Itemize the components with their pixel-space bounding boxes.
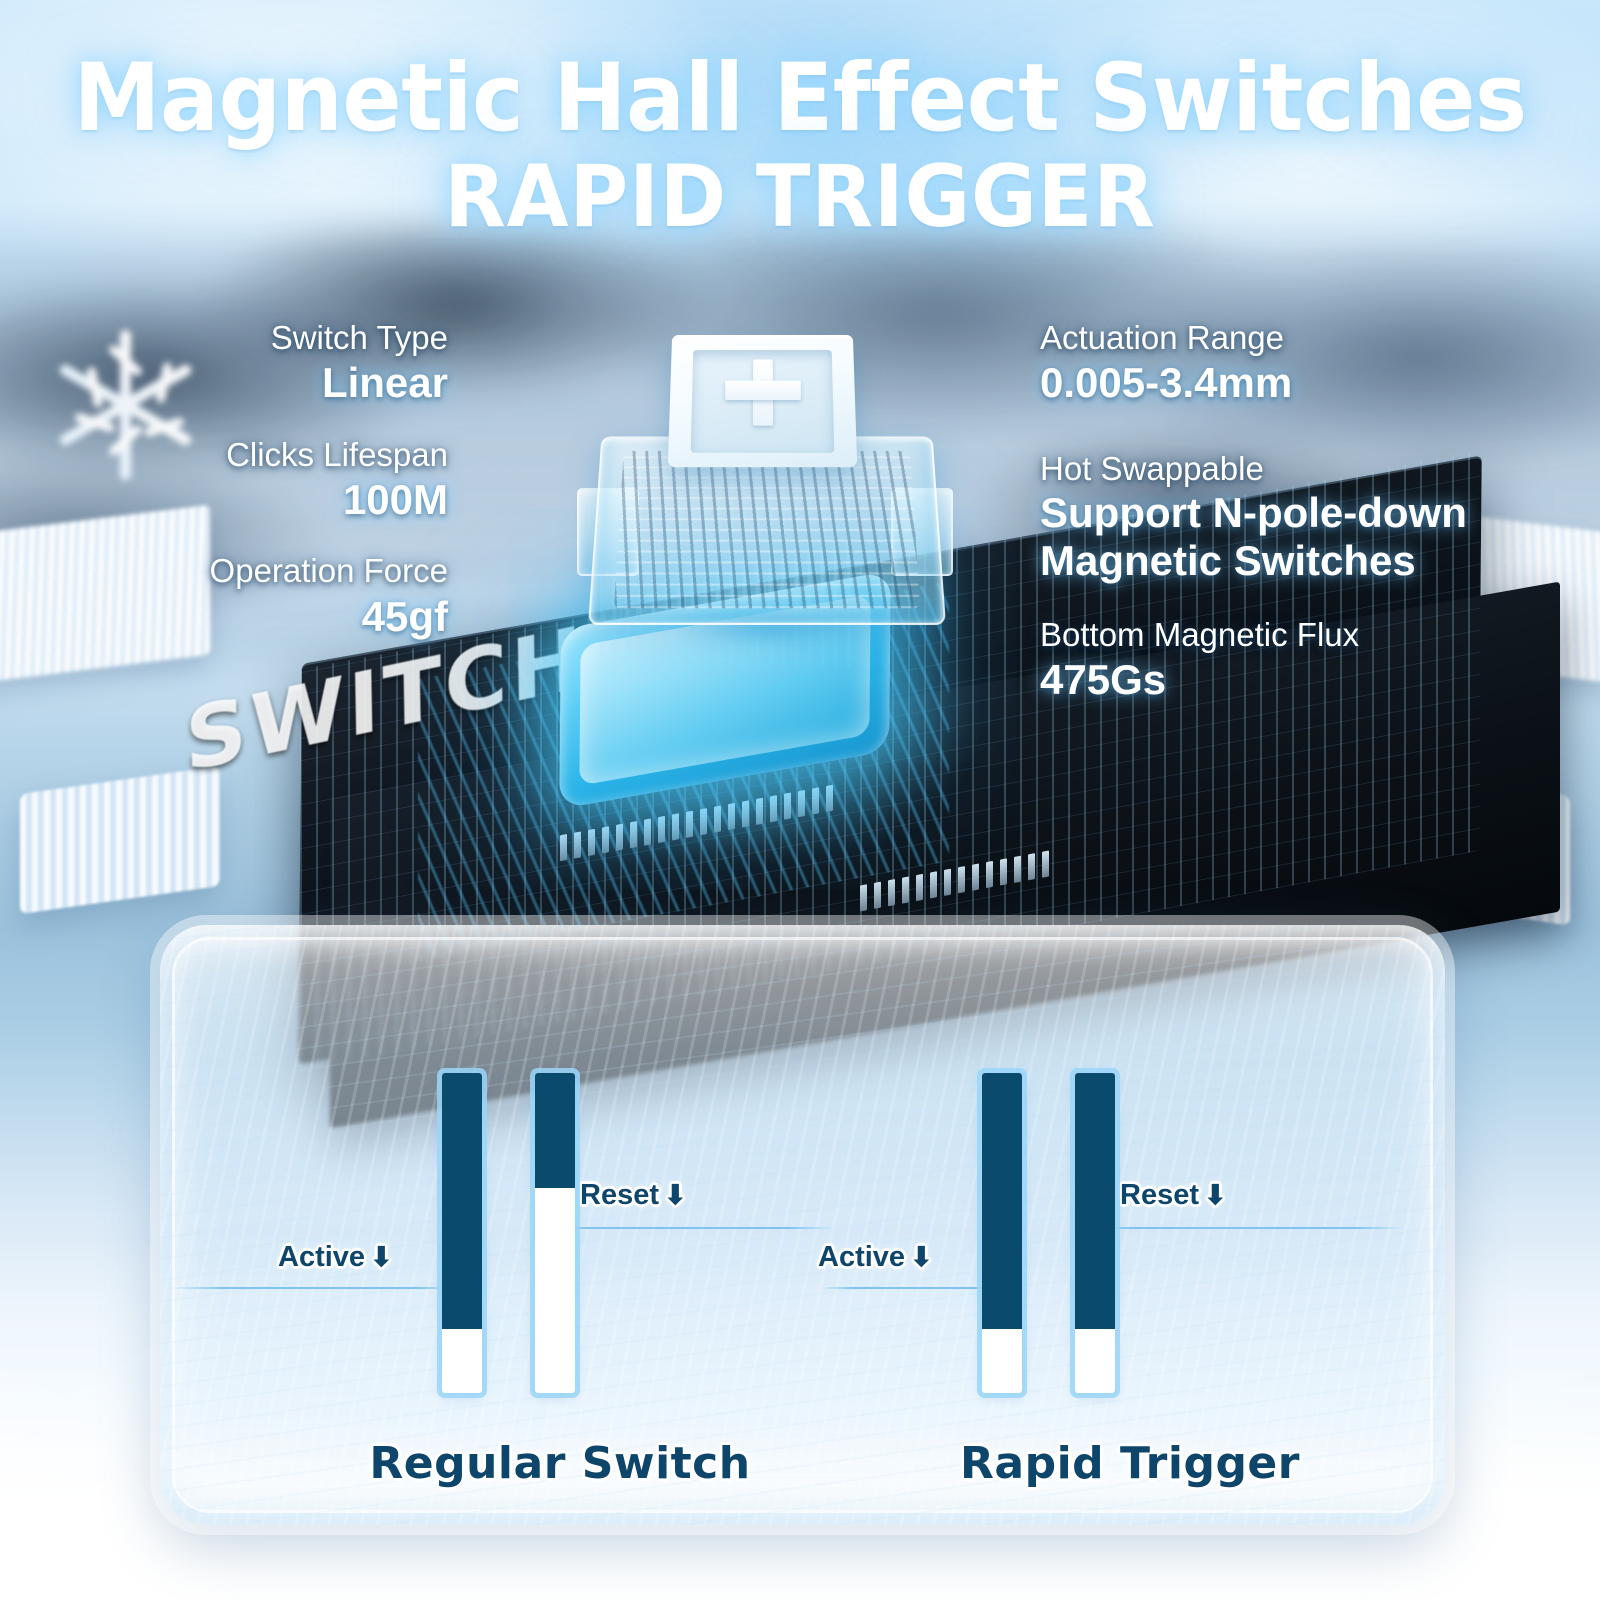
spec-label: Operation Force <box>0 551 448 591</box>
active-label: Active <box>818 1241 905 1273</box>
travel-bar-release <box>535 1073 575 1393</box>
spec-value: 475Gs <box>1040 655 1580 705</box>
spec-label: Switch Type <box>0 318 448 358</box>
down-arrow-icon: ⬇ <box>1204 1180 1227 1210</box>
travel-comparison-diagram: Active⬇ Reset⬇ Regular Switch <box>160 925 1445 1525</box>
spec-value: 100M <box>0 475 448 525</box>
stem-cross-horizontal <box>724 381 800 400</box>
switch-stem <box>668 335 857 467</box>
diagram-group-rapid-trigger: Active⬇ Reset⬇ Rapid Trigger <box>820 925 1440 1525</box>
product-infographic: SWITCH Magnetic Hall Effect Switches RAP… <box>0 0 1600 1600</box>
active-tag: Active⬇ <box>818 1241 933 1274</box>
spec-actuation-range: Actuation Range 0.005-3.4mm <box>1040 318 1580 409</box>
down-arrow-icon: ⬇ <box>910 1242 933 1272</box>
spec-value: Support N-pole-down Magnetic Switches <box>1040 489 1580 585</box>
spec-column-left: Switch Type Linear Clicks Lifespan 100M … <box>0 318 470 662</box>
active-label: Active <box>278 1241 365 1273</box>
spec-label: Bottom Magnetic Flux <box>1040 615 1580 655</box>
spec-label: Actuation Range <box>1040 318 1580 358</box>
spec-value: 0.005-3.4mm <box>1040 358 1580 408</box>
travel-bar-press <box>442 1073 482 1393</box>
headline-line-2: RAPID TRIGGER <box>56 152 1544 242</box>
spec-label: Clicks Lifespan <box>0 435 448 475</box>
headline-line-1: Magnetic Hall Effect Switches <box>56 52 1544 146</box>
spec-hot-swappable: Hot Swappable Support N-pole-down Magnet… <box>1040 449 1580 585</box>
travel-bar-press <box>982 1073 1022 1393</box>
key-switch-illustration <box>575 320 955 660</box>
active-tag: Active⬇ <box>278 1241 393 1274</box>
down-arrow-icon: ⬇ <box>370 1242 393 1272</box>
spec-clicks-lifespan: Clicks Lifespan 100M <box>0 435 448 526</box>
spec-value: Linear <box>0 358 448 408</box>
travel-bar-release <box>1075 1073 1115 1393</box>
spec-value: 45gf <box>0 592 448 642</box>
spec-switch-type: Switch Type Linear <box>0 318 448 409</box>
group-caption: Regular Switch <box>280 1438 840 1489</box>
diagram-group-regular-switch: Active⬇ Reset⬇ Regular Switch <box>280 925 840 1525</box>
ice-comparison-panel: Active⬇ Reset⬇ Regular Switch <box>160 925 1445 1525</box>
travel-bars <box>430 1073 640 1393</box>
travel-bars <box>970 1073 1180 1393</box>
headline: Magnetic Hall Effect Switches RAPID TRIG… <box>0 52 1600 242</box>
spec-operation-force: Operation Force 45gf <box>0 551 448 642</box>
spec-column-right: Actuation Range 0.005-3.4mm Hot Swappabl… <box>1040 318 1580 725</box>
group-caption: Rapid Trigger <box>820 1438 1440 1489</box>
spec-label: Hot Swappable <box>1040 449 1580 489</box>
spec-bottom-magnetic-flux: Bottom Magnetic Flux 475Gs <box>1040 615 1580 706</box>
active-guide-line <box>170 1287 462 1289</box>
down-arrow-icon: ⬇ <box>664 1180 687 1210</box>
